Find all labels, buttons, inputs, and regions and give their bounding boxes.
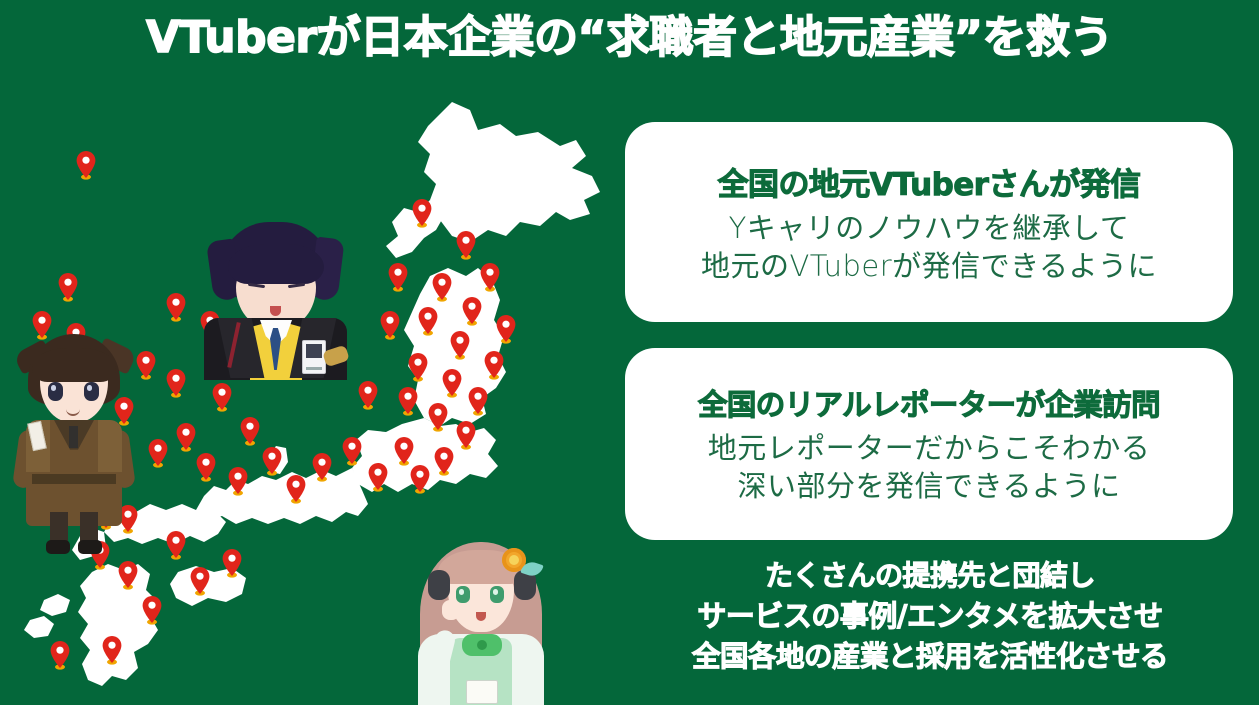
- card-real-reporter-heading: 全国のリアルレポーターが企業訪問: [698, 382, 1160, 424]
- avatar-ribbon: [462, 634, 502, 656]
- map-pin-icon: [379, 310, 401, 340]
- avatar-eye-right: [490, 586, 504, 603]
- map-pin-icon: [311, 452, 333, 482]
- map-pin-icon: [147, 438, 169, 468]
- map-pin-icon: [483, 350, 505, 380]
- map-pin-icon: [49, 640, 71, 670]
- avatar-hand: [442, 600, 460, 620]
- map-pin-icon: [221, 548, 243, 578]
- map-pin-icon: [101, 635, 123, 665]
- card-local-vtuber-heading: 全国の地元VTuberさんが発信: [718, 159, 1141, 204]
- map-pin-icon: [211, 382, 233, 412]
- map-pin-icon: [431, 272, 453, 302]
- map-pin-icon: [165, 368, 187, 398]
- page-title: VTuberが日本企業の“求職者と地元産業”を救う: [0, 14, 1259, 62]
- footer-line-1: たくさんの提携先と団結し: [610, 556, 1250, 596]
- vtuber-girl-reporter-avatar: [404, 534, 556, 705]
- map-pin-icon: [117, 560, 139, 590]
- card-real-reporter-line-2: 深い部分を発信できるように: [738, 468, 1121, 506]
- map-pin-icon: [189, 566, 211, 596]
- map-pin-icon: [455, 230, 477, 260]
- avatar-fringe: [228, 244, 324, 284]
- avatar-id-badge: [302, 340, 326, 374]
- avatar-eye-right: [84, 382, 99, 401]
- avatar-necktie: [69, 426, 78, 448]
- map-pin-icon: [417, 306, 439, 336]
- map-pin-icon: [455, 420, 477, 450]
- avatar-eye-left: [48, 382, 63, 401]
- card-local-vtuber-line-1: Yキャリのノウハウを継承して: [729, 210, 1130, 248]
- footer-line-3: 全国各地の産業と採用を活性化させる: [610, 637, 1250, 677]
- vtuber-suit-male-avatar: [198, 222, 353, 380]
- avatar-shoe-right: [78, 540, 102, 554]
- map-pin-icon: [411, 198, 433, 228]
- map-pin-icon: [495, 314, 517, 344]
- map-pin-icon: [479, 262, 501, 292]
- map-pin-icon: [367, 462, 389, 492]
- map-pin-icon: [341, 436, 363, 466]
- map-pin-icon: [357, 380, 379, 410]
- map-pin-icon: [141, 595, 163, 625]
- map-pin-icon: [449, 330, 471, 360]
- avatar-fringe: [32, 348, 116, 382]
- vtuber-chibi-detective-avatar: [14, 334, 134, 556]
- map-pin-icon: [285, 474, 307, 504]
- avatar-shoe-left: [46, 540, 70, 554]
- map-pin-icon: [57, 272, 79, 302]
- footer-line-2: サービスの事例/エンタメを拡大させ: [610, 596, 1250, 637]
- card-real-reporter[interactable]: 全国のリアルレポーターが企業訪問 地元レポーターだからこそわかる 深い部分を発信…: [625, 348, 1233, 540]
- map-pin-icon: [227, 466, 249, 496]
- map-pin-icon: [175, 422, 197, 452]
- slide-root: VTuberが日本企業の“求職者と地元産業”を救う: [0, 0, 1259, 705]
- map-pin-icon: [393, 436, 415, 466]
- map-pin-icon: [467, 386, 489, 416]
- avatar-headphone-left: [428, 570, 450, 600]
- avatar-name-tag: [466, 680, 498, 704]
- card-local-vtuber[interactable]: 全国の地元VTuberさんが発信 Yキャリのノウハウを継承して 地元のVTube…: [625, 122, 1233, 322]
- avatar-eye-left: [456, 586, 470, 603]
- card-local-vtuber-line-2: 地元のVTuberが発信できるように: [701, 248, 1157, 286]
- map-pin-icon: [75, 150, 97, 180]
- footer-message: たくさんの提携先と団結し サービスの事例/エンタメを拡大させ 全国各地の産業と採…: [610, 556, 1250, 677]
- map-pin-icon: [387, 262, 409, 292]
- map-pin-icon: [409, 464, 431, 494]
- map-pin-icon: [441, 368, 463, 398]
- map-pin-icon: [195, 452, 217, 482]
- map-pin-icon: [433, 446, 455, 476]
- card-real-reporter-line-1: 地元レポーターだからこそわかる: [708, 430, 1151, 468]
- map-pin-icon: [407, 352, 429, 382]
- map-pin-icon: [165, 292, 187, 322]
- map-pin-icon: [261, 446, 283, 476]
- avatar-coat-plaid-right: [98, 420, 122, 472]
- avatar-belt: [32, 474, 116, 484]
- map-pin-icon: [397, 386, 419, 416]
- map-pin-icon: [165, 530, 187, 560]
- map-pin-icon: [461, 296, 483, 326]
- map-pin-icon: [239, 416, 261, 446]
- map-pin-icon: [427, 402, 449, 432]
- map-pin-icon: [135, 350, 157, 380]
